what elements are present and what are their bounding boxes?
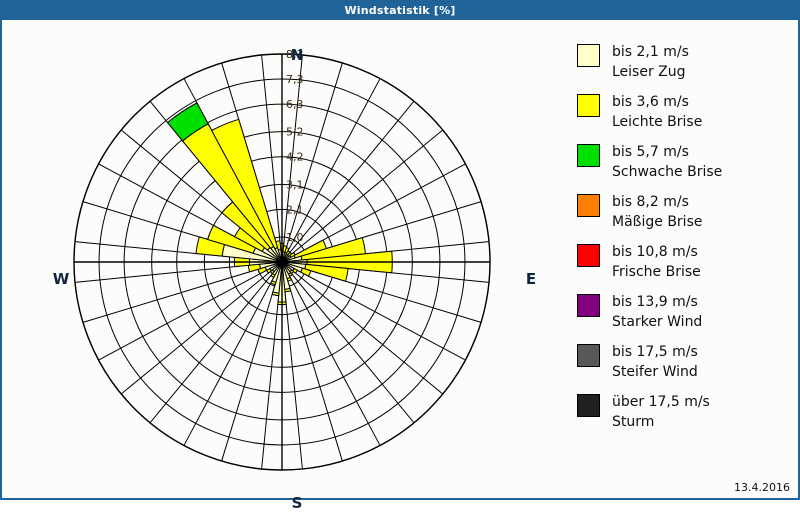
legend-item: bis 2,1 m/sLeiser Zug — [577, 42, 792, 86]
legend-item: über 17,5 m/sSturm — [577, 392, 792, 436]
polar-axes — [74, 54, 490, 470]
legend-item-text: bis 5,7 m/sSchwache Brise — [612, 142, 722, 182]
legend-item: bis 17,5 m/sSteifer Wind — [577, 342, 792, 386]
legend-item-name: Schwache Brise — [612, 162, 722, 182]
wind-rose-sector — [285, 288, 291, 292]
legend-swatch-bis-2-1 — [577, 44, 600, 67]
legend-item-name: Sturm — [612, 412, 710, 432]
legend-swatch-ueber-17-5 — [577, 394, 600, 417]
legend-item-text: bis 13,9 m/sStarker Wind — [612, 292, 702, 332]
legend-swatch-bis-10-8 — [577, 244, 600, 267]
radial-tick-label: 1,0 — [286, 231, 304, 244]
legend-item-speed: bis 5,7 m/s — [612, 142, 722, 162]
radial-tick-label: 4,2 — [286, 151, 304, 164]
legend-item-name: Leiser Zug — [612, 62, 689, 82]
legend-item-speed: bis 10,8 m/s — [612, 242, 701, 262]
legend-item-name: Starker Wind — [612, 312, 702, 332]
legend-item-speed: bis 8,2 m/s — [612, 192, 702, 212]
radial-tick-label: 7,3 — [286, 73, 304, 86]
grid-spoke — [184, 262, 282, 445]
window-title: Windstatistik [%] — [344, 4, 455, 17]
grid-spoke — [282, 262, 465, 360]
date-stamp: 13.4.2016 — [734, 481, 790, 494]
wind-statistics-window: Windstatistik [%] 1,02,13,14,25,26,37,38… — [0, 0, 800, 500]
grid-spoke — [150, 262, 282, 423]
legend-item-text: bis 8,2 m/sMäßige Brise — [612, 192, 702, 232]
legend-item-text: bis 10,8 m/sFrische Brise — [612, 242, 701, 282]
legend-item-name: Frische Brise — [612, 262, 701, 282]
legend-item: bis 3,6 m/sLeichte Brise — [577, 92, 792, 136]
grid-spoke — [282, 262, 414, 423]
wind-rose-plot: 1,02,13,14,25,26,37,38,3 — [2, 20, 562, 498]
radial-tick-label: 3,1 — [286, 178, 304, 191]
legend-item: bis 8,2 m/sMäßige Brise — [577, 192, 792, 236]
legend-swatch-bis-13-9 — [577, 294, 600, 317]
legend-item-name: Leichte Brise — [612, 112, 702, 132]
legend-swatch-bis-17-5 — [577, 344, 600, 367]
legend-item-text: bis 3,6 m/sLeichte Brise — [612, 92, 702, 132]
wind-rose-chart: 1,02,13,14,25,26,37,38,3 N S W E — [2, 20, 562, 498]
compass-label-west: W — [41, 270, 81, 288]
radial-tick-label: 5,2 — [286, 126, 304, 139]
legend-item-name: Steifer Wind — [612, 362, 698, 382]
legend-item-speed: bis 13,9 m/s — [612, 292, 702, 312]
grid-spoke — [282, 262, 380, 445]
grid-spoke — [99, 262, 282, 360]
legend-item: bis 5,7 m/sSchwache Brise — [577, 142, 792, 186]
legend-swatch-bis-5-7 — [577, 144, 600, 167]
radial-tick-labels: 1,02,13,14,25,26,37,38,3 — [286, 48, 304, 244]
legend-item-speed: bis 17,5 m/s — [612, 342, 698, 362]
grid-spoke — [121, 262, 282, 394]
compass-label-south: S — [277, 494, 317, 512]
compass-label-north: N — [277, 46, 317, 64]
grid-spoke — [282, 262, 342, 461]
window-content: 1,02,13,14,25,26,37,38,3 N S W E bis 2,1… — [2, 20, 798, 498]
legend-item-text: über 17,5 m/sSturm — [612, 392, 710, 432]
legend-swatch-bis-8-2 — [577, 194, 600, 217]
legend-item-speed: bis 2,1 m/s — [612, 42, 689, 62]
radial-tick-label: 2,1 — [286, 203, 304, 216]
compass-label-east: E — [511, 270, 551, 288]
window-title-bar: Windstatistik [%] — [2, 2, 798, 20]
legend-item: bis 13,9 m/sStarker Wind — [577, 292, 792, 336]
legend-item-text: bis 17,5 m/sSteifer Wind — [612, 342, 698, 382]
legend-item-speed: bis 3,6 m/s — [612, 92, 702, 112]
radial-tick-label: 6,3 — [286, 98, 304, 111]
legend-item-name: Mäßige Brise — [612, 212, 702, 232]
legend-item-speed: über 17,5 m/s — [612, 392, 710, 412]
legend: bis 2,1 m/sLeiser Zugbis 3,6 m/sLeichte … — [577, 42, 792, 442]
grid-spoke — [282, 262, 443, 394]
legend-item: bis 10,8 m/sFrische Brise — [577, 242, 792, 286]
legend-swatch-bis-3-6 — [577, 94, 600, 117]
legend-item-text: bis 2,1 m/sLeiser Zug — [612, 42, 689, 82]
